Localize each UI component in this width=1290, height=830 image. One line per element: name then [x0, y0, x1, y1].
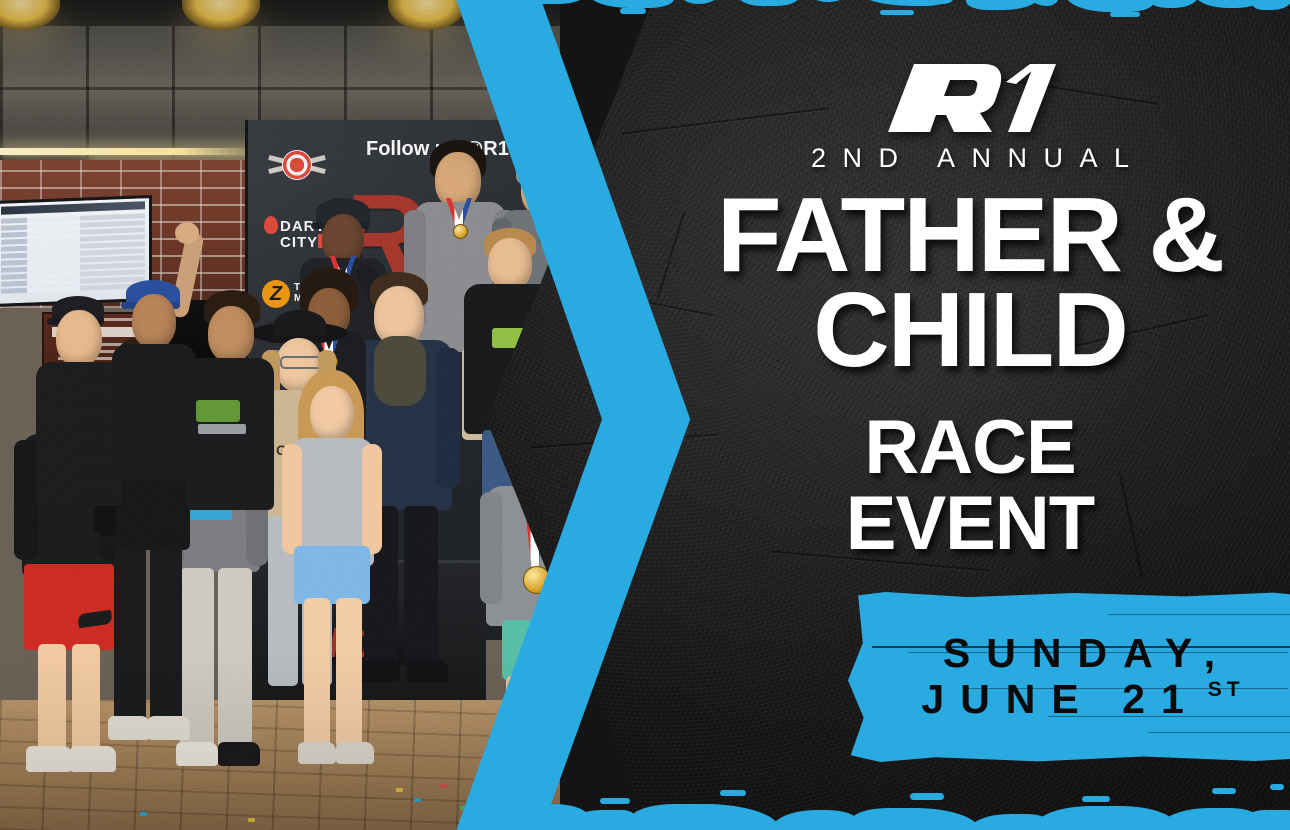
axe-bar-badge-icon [266, 148, 328, 188]
confetti [414, 798, 421, 802]
eyebrow-text: 2ND ANNUAL [650, 143, 1290, 174]
date-line-2-text: JUNE 21 [905, 677, 1199, 723]
confetti [140, 812, 147, 816]
confetti [396, 788, 403, 792]
date-text: SUNDAY, JUNE 21ST [848, 592, 1290, 762]
confetti [440, 784, 447, 788]
person-adult-blue-cap [112, 280, 196, 480]
poster-content: 2ND ANNUAL FATHER & CHILD RACE EVENT SUN… [650, 0, 1290, 830]
subheadline-line-2: EVENT [650, 486, 1290, 562]
r1-logo [650, 60, 1290, 136]
date-line-2: JUNE 21ST [905, 677, 1252, 723]
subheadline-line-1: RACE [650, 410, 1290, 486]
person-girl-blue [288, 370, 376, 810]
date-ordinal-suffix: ST [1192, 679, 1245, 700]
raised-fist [175, 222, 199, 244]
person-teen-left [186, 290, 274, 510]
promotional-poster: R1 Follow us @R1in ENT DARTCITY Z TIMEMI… [0, 0, 1290, 830]
headline: FATHER & CHILD [650, 188, 1290, 379]
subheadline: RACE EVENT [650, 410, 1290, 562]
event-photo: R1 Follow us @R1in ENT DARTCITY Z TIMEMI… [0, 0, 560, 830]
confetti [248, 818, 255, 822]
person-adult-left [36, 296, 122, 506]
date-line-1: SUNDAY, [927, 631, 1231, 677]
headline-line-2: CHILD [650, 283, 1290, 378]
headline-line-1: FATHER & [650, 188, 1290, 283]
